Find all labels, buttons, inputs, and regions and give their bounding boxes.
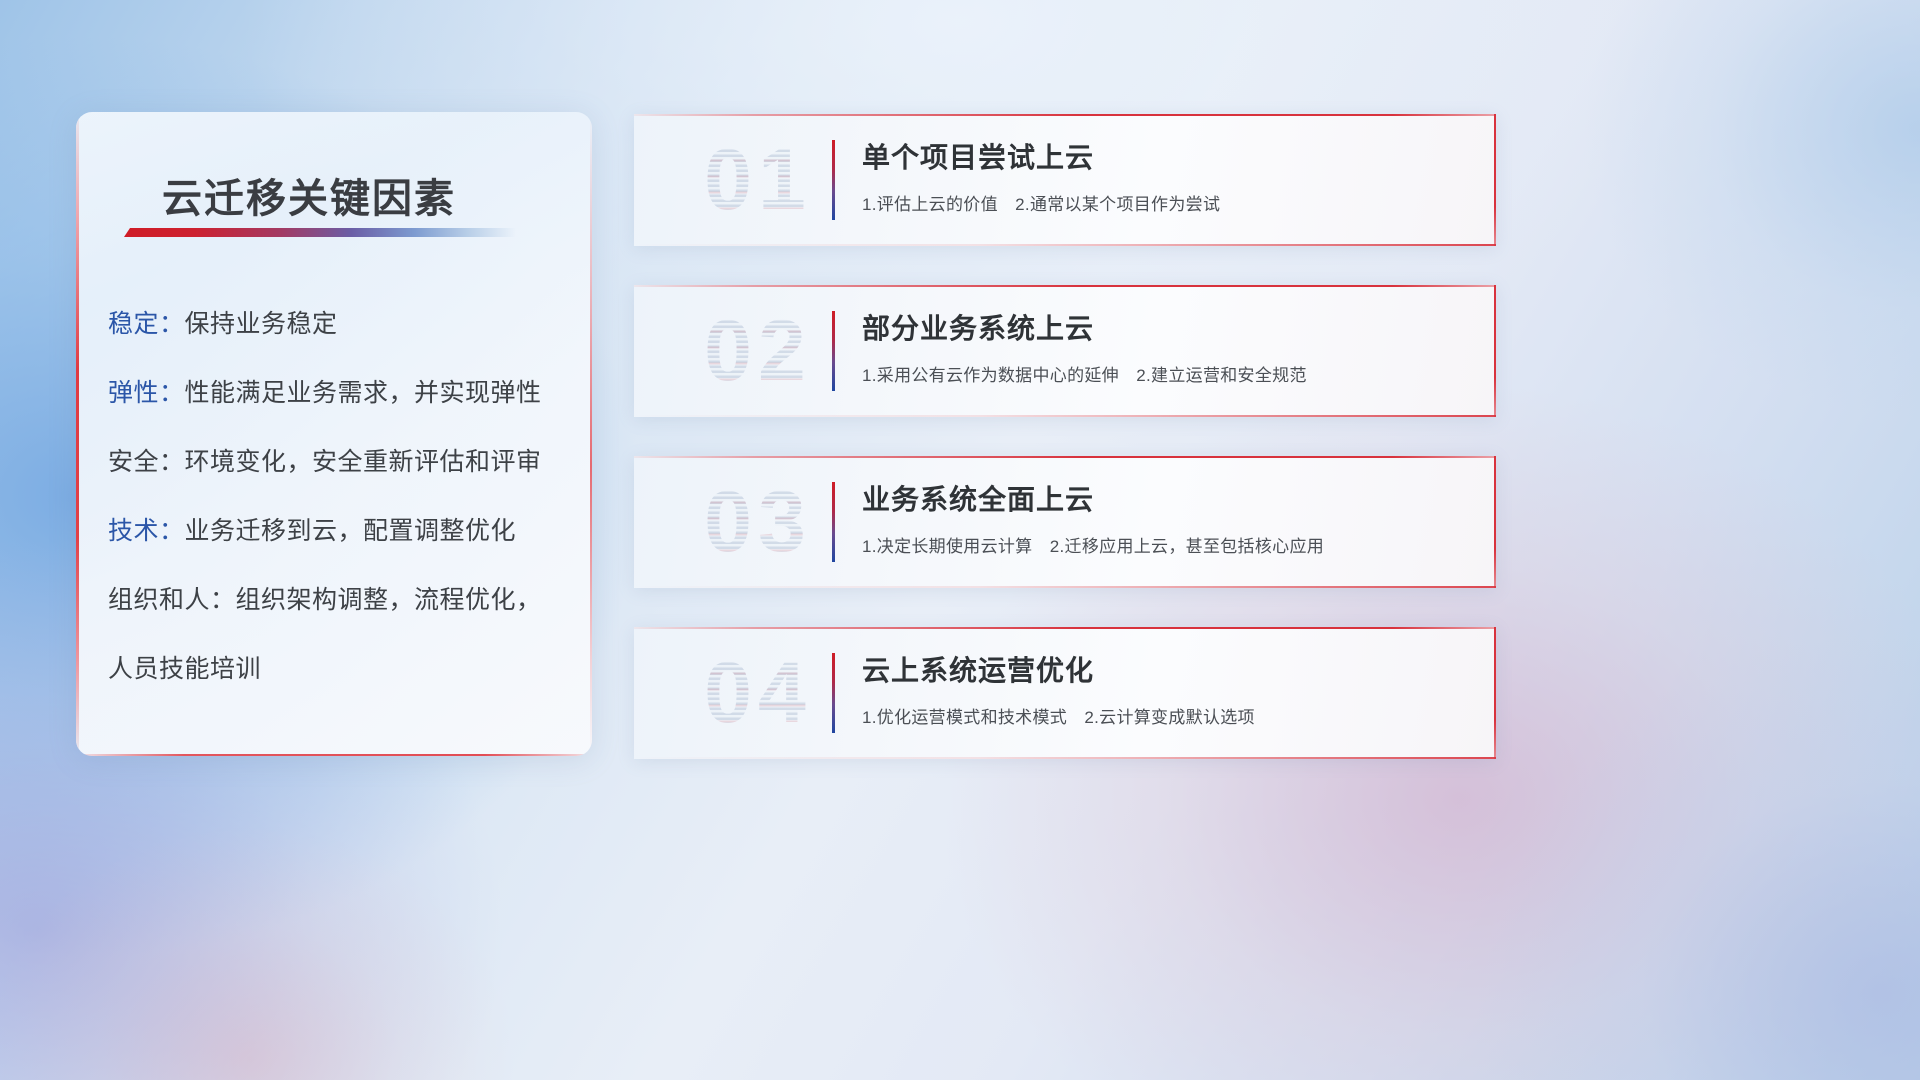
card-divider-bar (832, 482, 835, 562)
card-detail: 1.优化运营模式和技术模式 2.云计算变成默认选项 (862, 703, 1255, 728)
card-bottom-accent (634, 244, 1496, 246)
list-item: 组织和人：组织架构调整，流程优化， (108, 588, 574, 613)
stage-card-01[interactable]: 01 01 单个项目尝试上云 1.评估上云的价值 2.通常以某个项目作为尝试 (634, 114, 1496, 246)
panel-bottom-accent (84, 754, 584, 756)
list-item: 安全：环境变化，安全重新评估和评审 (108, 450, 574, 475)
card-top-accent (634, 627, 1496, 629)
card-bottom-accent (634, 757, 1496, 759)
list-item-text: 业务迁移到云，配置调整优化 (185, 517, 517, 545)
list-item-continuation: 人员技能培训 (108, 657, 574, 682)
card-number-watermark-tint: 04 (658, 641, 858, 745)
card-top-accent (634, 285, 1496, 287)
card-number-watermark-tint: 03 (658, 470, 858, 574)
list-item: 稳定：保持业务稳定 (108, 312, 574, 337)
card-number-watermark-tint: 01 (658, 128, 858, 232)
page-title: 云迁移关键因素 (162, 166, 456, 224)
list-item-label: 稳定： (108, 310, 185, 338)
list-item-label: 技术： (108, 517, 185, 545)
card-divider-bar (832, 311, 835, 391)
card-heading: 单个项目尝试上云 (862, 136, 1094, 176)
card-detail: 1.决定长期使用云计算 2.迁移应用上云，甚至包括核心应用 (862, 532, 1324, 557)
stage-card-02[interactable]: 02 02 部分业务系统上云 1.采用公有云作为数据中心的延伸 2.建立运营和安… (634, 285, 1496, 417)
stage-card-04[interactable]: 04 04 云上系统运营优化 1.优化运营模式和技术模式 2.云计算变成默认选项 (634, 627, 1496, 759)
list-item-label: 弹性： (108, 379, 185, 407)
card-detail: 1.采用公有云作为数据中心的延伸 2.建立运营和安全规范 (862, 361, 1307, 386)
title-underline-rule (124, 228, 516, 237)
list-item: 弹性：性能满足业务需求，并实现弹性 (108, 381, 574, 406)
card-right-accent (1494, 114, 1496, 246)
list-item-text: 组织架构调整，流程优化， (236, 586, 542, 614)
list-item-label: 安全： (108, 448, 185, 476)
card-top-accent (634, 114, 1496, 116)
key-factors-panel: 云迁移关键因素 稳定：保持业务稳定 弹性：性能满足业务需求，并实现弹性 安全：环… (76, 112, 592, 756)
card-heading: 云上系统运营优化 (862, 649, 1094, 689)
list-item-text: 人员技能培训 (108, 655, 261, 683)
list-item-text: 保持业务稳定 (185, 310, 338, 338)
card-heading: 业务系统全面上云 (862, 478, 1094, 518)
list-item-text: 环境变化，安全重新评估和评审 (185, 448, 542, 476)
list-item: 技术：业务迁移到云，配置调整优化 (108, 519, 574, 544)
card-bottom-accent (634, 586, 1496, 588)
card-divider-bar (832, 653, 835, 733)
key-factors-list: 稳定：保持业务稳定 弹性：性能满足业务需求，并实现弹性 安全：环境变化，安全重新… (108, 312, 574, 682)
stage-card-03[interactable]: 03 03 业务系统全面上云 1.决定长期使用云计算 2.迁移应用上云，甚至包括… (634, 456, 1496, 588)
card-number-watermark-tint: 02 (658, 299, 858, 403)
slide-stage: 云迁移关键因素 稳定：保持业务稳定 弹性：性能满足业务需求，并实现弹性 安全：环… (0, 0, 1920, 1080)
card-top-accent (634, 456, 1496, 458)
card-right-accent (1494, 627, 1496, 759)
card-right-accent (1494, 285, 1496, 417)
list-item-label: 组织和人： (108, 586, 236, 614)
card-detail: 1.评估上云的价值 2.通常以某个项目作为尝试 (862, 190, 1220, 215)
card-heading: 部分业务系统上云 (862, 307, 1094, 347)
card-divider-bar (832, 140, 835, 220)
card-right-accent (1494, 456, 1496, 588)
list-item-text: 性能满足业务需求，并实现弹性 (185, 379, 542, 407)
card-bottom-accent (634, 415, 1496, 417)
